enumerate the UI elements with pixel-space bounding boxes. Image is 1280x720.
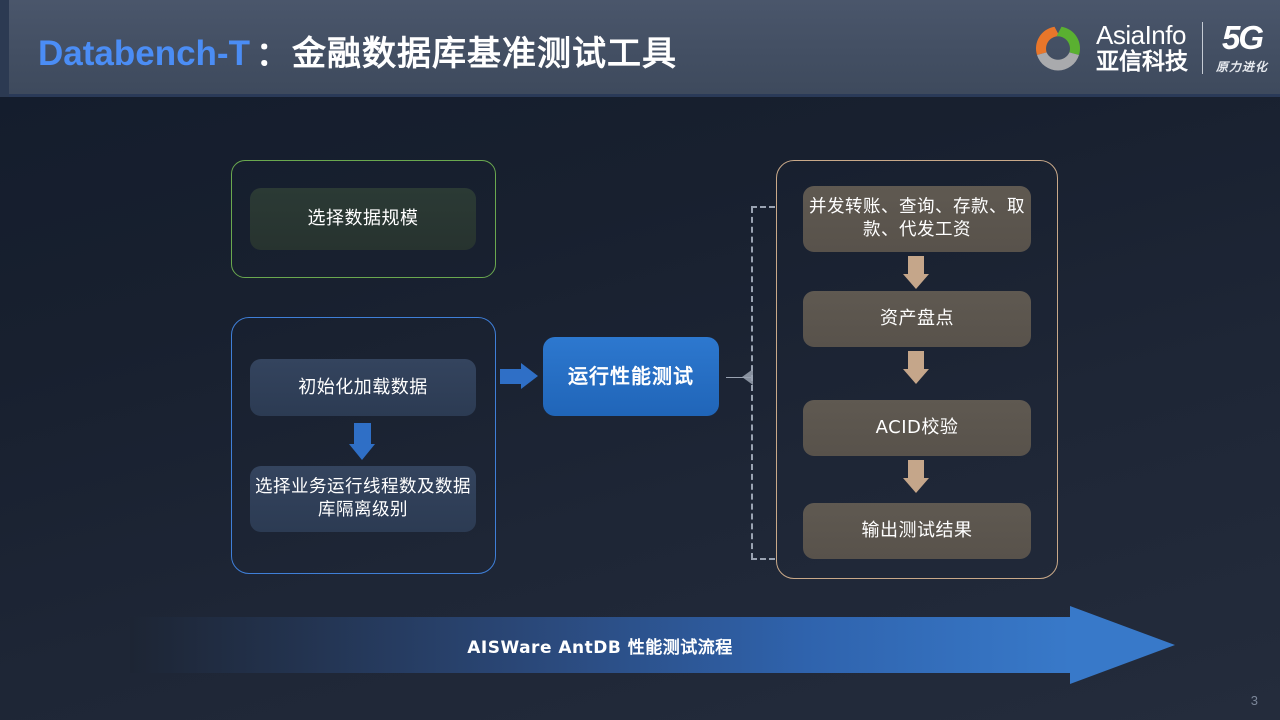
banner-label: AISWare AntDB 性能测试流程 xyxy=(130,617,1070,673)
page-title-en: Databench-T xyxy=(38,34,250,74)
node-init-load-data[interactable]: 初始化加载数据 xyxy=(250,359,476,416)
page-number: 3 xyxy=(1251,693,1258,708)
node-output-test-result[interactable]: 输出测试结果 xyxy=(803,503,1031,559)
page-title: Databench-T ： 金融数据库基准测试工具 xyxy=(38,26,677,75)
brand-name-cn: 亚信科技 xyxy=(1096,51,1188,74)
slide-canvas: Databench-T ： 金融数据库基准测试工具 AsiaInfo 亚信科技 xyxy=(0,0,1280,720)
node-select-threads-isolation[interactable]: 选择业务运行线程数及数据库隔离级别 xyxy=(250,466,476,532)
slide-header: Databench-T ： 金融数据库基准测试工具 AsiaInfo 亚信科技 xyxy=(0,0,1280,97)
bracket-top-segment xyxy=(751,206,775,208)
brand-logo: AsiaInfo 亚信科技 5G 原力进化 xyxy=(1029,14,1268,82)
node-select-data-scale[interactable]: 选择数据规模 xyxy=(250,188,476,250)
page-title-separator: ： xyxy=(250,27,292,75)
node-run-performance-test[interactable]: 运行性能测试 xyxy=(543,337,719,416)
process-flow-banner: AISWare AntDB 性能测试流程 xyxy=(130,617,1175,673)
bracket-arrow-left-icon xyxy=(742,369,753,385)
page-title-cn: 金融数据库基准测试工具 xyxy=(292,26,677,75)
bracket-bottom-segment xyxy=(751,558,775,560)
node-acid-verification[interactable]: ACID校验 xyxy=(803,400,1031,456)
brand-name-en: AsiaInfo xyxy=(1096,22,1188,48)
node-asset-inventory[interactable]: 资产盘点 xyxy=(803,291,1031,347)
5g-badge: 5G 原力进化 xyxy=(1216,21,1268,75)
5g-badge-label: 5G xyxy=(1222,21,1262,54)
brand-wordmark: AsiaInfo 亚信科技 xyxy=(1096,22,1188,74)
banner-arrow-right-icon xyxy=(1070,606,1175,684)
logo-divider xyxy=(1202,22,1203,74)
node-concurrent-transactions[interactable]: 并发转账、查询、存款、取款、代发工资 xyxy=(803,186,1031,252)
5g-badge-subtitle: 原力进化 xyxy=(1216,58,1268,75)
header-accent-bar xyxy=(0,0,9,97)
asiainfo-ring-icon xyxy=(1029,19,1087,77)
